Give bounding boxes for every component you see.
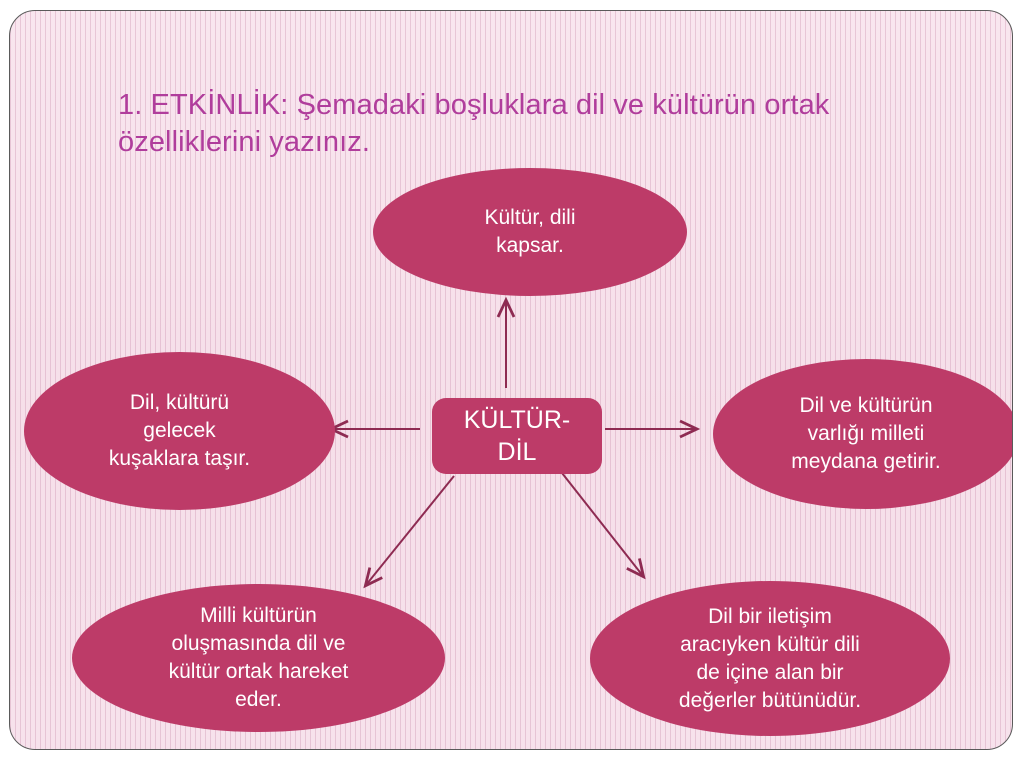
slide-canvas: 1. ETKİNLİK: Şemadaki boşluklara dil ve … [9,10,1013,750]
diagram-node-bottom-right[interactable]: Dil bir iletişim aracıyken kültür dili d… [590,581,950,736]
arrow-center-to-bottom-right [562,473,643,576]
diagram-node-bottom-left[interactable]: Milli kültürün oluşmasında dil ve kültür… [72,584,445,732]
diagram-node-left[interactable]: Dil, kültürü gelecek kuşaklara taşır. [24,352,335,510]
arrow-center-to-bottom-left [366,476,454,585]
page-title: 1. ETKİNLİK: Şemadaki boşluklara dil ve … [118,87,978,161]
diagram-node-center[interactable]: KÜLTÜR- DİL [432,398,602,474]
diagram-node-top[interactable]: Kültür, dili kapsar. [373,168,687,296]
diagram-node-right[interactable]: Dil ve kültürün varlığı milleti meydana … [713,359,1013,509]
